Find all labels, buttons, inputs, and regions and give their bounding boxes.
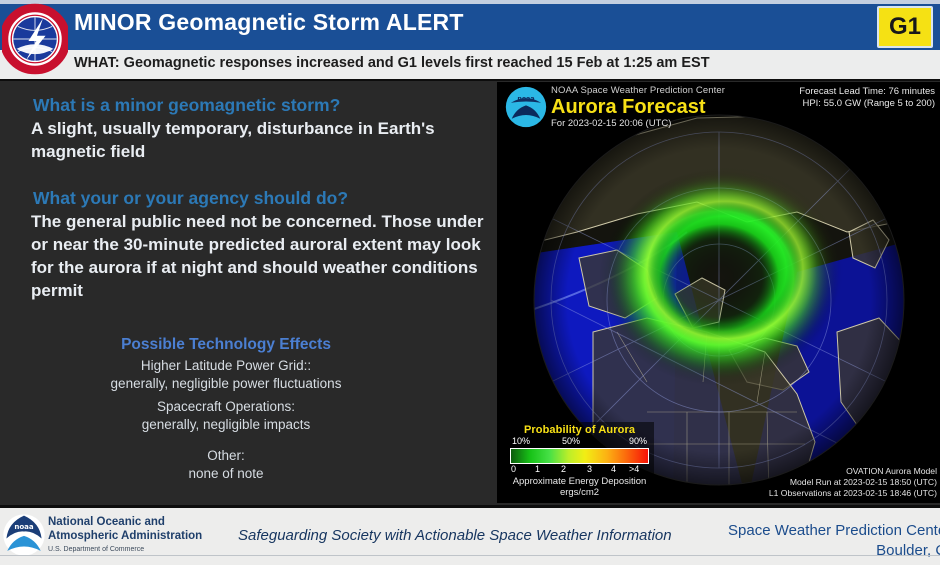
legend-tick-1: 1 bbox=[535, 464, 540, 474]
model-run-time: Model Run at 2023-02-15 18:50 (UTC) bbox=[769, 477, 937, 488]
question-1-heading: What is a minor geomagnetic storm? bbox=[33, 95, 340, 116]
noaa-agency-line2: Atmospheric Administration bbox=[48, 530, 202, 544]
question-2-heading: What your or your agency should do? bbox=[33, 188, 348, 209]
national-weather-service-logo: ★ ★ ★ ★ bbox=[2, 2, 68, 76]
footer-divider bbox=[0, 555, 940, 556]
technology-effects-heading: Possible Technology Effects bbox=[0, 336, 452, 354]
legend-caption: Approximate Energy Deposition ergs/cm2 bbox=[508, 476, 651, 498]
legend-energy-ticks: 0 1 2 3 4 >4 bbox=[511, 464, 648, 476]
legend-tick-0: 0 bbox=[511, 464, 516, 474]
what-summary-text: WHAT: Geomagnetic responses increased an… bbox=[74, 55, 710, 71]
map-title-block: NOAA Space Weather Prediction Center Aur… bbox=[551, 85, 725, 129]
legend-caption-line1: Approximate Energy Deposition bbox=[508, 476, 651, 487]
page-footer: noaa National Oceanic and Atmospheric Ad… bbox=[0, 505, 940, 565]
header-top-rule bbox=[0, 0, 940, 4]
tech-effect-label: Higher Latitude Power Grid:: bbox=[0, 357, 452, 375]
aurora-forecast-map[interactable]: noaa NOAA Space Weather Prediction Cente… bbox=[497, 82, 940, 503]
svg-text:noaa: noaa bbox=[14, 522, 34, 531]
main-content: What is a minor geomagnetic storm? A sli… bbox=[0, 81, 940, 505]
svg-text:★: ★ bbox=[32, 5, 38, 13]
noaa-agency-line1: National Oceanic and bbox=[48, 516, 202, 530]
tech-effect-label: Spacecraft Operations: bbox=[0, 398, 452, 416]
noaa-logo-icon: noaa bbox=[2, 513, 46, 557]
swpc-office-name: Space Weather Prediction Cente bbox=[728, 522, 940, 539]
alert-title: MINOR Geomagnetic Storm ALERT bbox=[74, 9, 464, 36]
tech-effect-detail: generally, negligible impacts bbox=[0, 416, 452, 434]
noaa-department-line: U.S. Department of Commerce bbox=[48, 546, 202, 553]
legend-percent-90: 90% bbox=[629, 436, 647, 446]
noaa-agency-name: National Oceanic and Atmospheric Adminis… bbox=[48, 516, 202, 543]
legend-tick-4: 4 bbox=[611, 464, 616, 474]
storm-scale-badge: G1 bbox=[877, 6, 933, 48]
swpc-office-location: Boulder, C bbox=[728, 541, 940, 561]
what-summary-bar: WHAT: Geomagnetic responses increased an… bbox=[0, 50, 940, 81]
map-model-meta: OVATION Aurora Model Model Run at 2023-0… bbox=[769, 466, 937, 499]
model-name: OVATION Aurora Model bbox=[769, 466, 937, 477]
legend-color-bar bbox=[510, 448, 649, 464]
forecast-lead-time: Forecast Lead Time: 76 minutes bbox=[799, 86, 935, 98]
question-1-body: A slight, usually temporary, disturbance… bbox=[31, 117, 481, 163]
tech-effect-label: Other: bbox=[0, 447, 452, 465]
tech-effect-power-grid: Higher Latitude Power Grid:: generally, … bbox=[0, 357, 452, 393]
tech-effect-spacecraft: Spacecraft Operations: generally, neglig… bbox=[0, 398, 452, 434]
question-2-body: The general public need not be concerned… bbox=[31, 210, 491, 302]
map-title: Aurora Forecast bbox=[551, 96, 725, 118]
alert-header-bar: ★ ★ ★ ★ MINOR Geomagnetic Storm ALERT G1 bbox=[0, 0, 940, 50]
map-valid-time: For 2023-02-15 20:06 (UTC) bbox=[551, 118, 725, 129]
noaa-logo-icon: noaa bbox=[505, 86, 547, 128]
legend-percent-50: 50% bbox=[562, 436, 580, 446]
noaa-agency-block: National Oceanic and Atmospheric Adminis… bbox=[48, 516, 202, 553]
legend-tick-3: 3 bbox=[587, 464, 592, 474]
svg-text:★ ★ ★: ★ ★ ★ bbox=[25, 67, 45, 74]
tech-effect-other: Other: none of note bbox=[0, 447, 452, 483]
legend-percent-10: 10% bbox=[512, 436, 530, 446]
tech-effect-detail: none of note bbox=[0, 465, 452, 483]
svg-text:noaa: noaa bbox=[517, 95, 534, 102]
explanation-column: What is a minor geomagnetic storm? A sli… bbox=[0, 81, 492, 505]
map-forecast-meta: Forecast Lead Time: 76 minutes HPI: 55.0… bbox=[799, 86, 935, 110]
legend-tick-gt4: >4 bbox=[629, 464, 639, 474]
tech-effect-detail: generally, negligible power fluctuations bbox=[0, 375, 452, 393]
footer-tagline: Safeguarding Society with Actionable Spa… bbox=[238, 527, 672, 544]
legend-percent-labels: 10% 50% 90% bbox=[508, 436, 651, 448]
map-agency-line: NOAA Space Weather Prediction Center bbox=[551, 85, 725, 96]
legend-caption-line2: ergs/cm2 bbox=[508, 487, 651, 498]
l1-observation-time: L1 Observations at 2023-02-15 18:46 (UTC… bbox=[769, 488, 937, 499]
hemispheric-power-index: HPI: 55.0 GW (Range 5 to 200) bbox=[799, 98, 935, 110]
legend-tick-2: 2 bbox=[561, 464, 566, 474]
aurora-probability-legend: Probability of Aurora 10% 50% 90% 0 1 2 … bbox=[505, 422, 654, 499]
legend-title: Probability of Aurora bbox=[508, 424, 651, 436]
